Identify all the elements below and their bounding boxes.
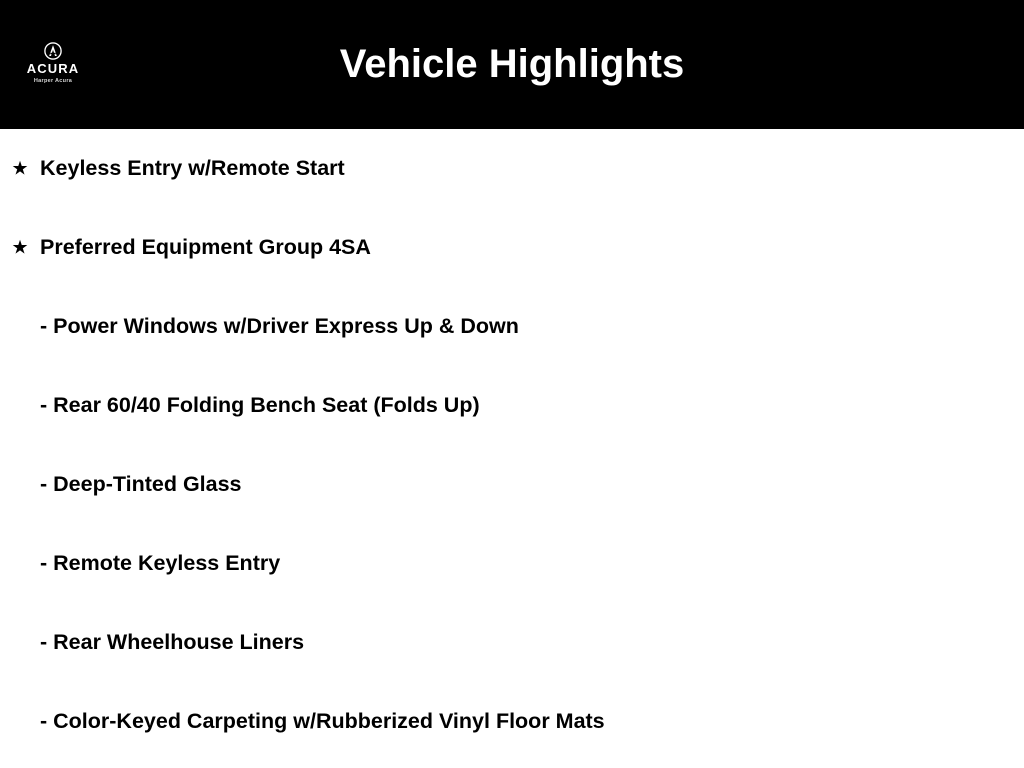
highlight-item-label: Preferred Equipment Group 4SA	[40, 235, 371, 260]
highlight-item-label: - Remote Keyless Entry	[40, 551, 280, 576]
highlight-item-label: - Rear Wheelhouse Liners	[40, 630, 304, 655]
highlight-item: - Rear 60/40 Folding Bench Seat (Folds U…	[0, 366, 1024, 445]
highlight-item: ★Keyless Entry w/Remote Start	[0, 129, 1024, 208]
highlight-item: ★Preferred Equipment Group 4SA	[0, 208, 1024, 287]
highlight-item: - Power Windows w/Driver Express Up & Do…	[0, 287, 1024, 366]
highlight-item: - Remote Keyless Entry	[0, 524, 1024, 603]
page-title: Vehicle Highlights	[0, 41, 1024, 87]
highlight-item: - Deep-Tinted Glass	[0, 445, 1024, 524]
highlight-item-label: - Deep-Tinted Glass	[40, 472, 242, 497]
highlight-item-label: - Power Windows w/Driver Express Up & Do…	[40, 314, 519, 339]
highlight-item-label: - Color-Keyed Carpeting w/Rubberized Vin…	[40, 709, 605, 734]
highlight-item: - Rear Wheelhouse Liners	[0, 603, 1024, 682]
vehicle-highlights-list: ★Keyless Entry w/Remote Start★Preferred …	[0, 129, 1024, 761]
highlight-item: - Color-Keyed Carpeting w/Rubberized Vin…	[0, 682, 1024, 761]
highlight-item-label: - Rear 60/40 Folding Bench Seat (Folds U…	[40, 393, 480, 418]
star-bullet-icon: ★	[11, 159, 29, 178]
star-bullet-icon: ★	[11, 238, 29, 257]
highlight-item-label: Keyless Entry w/Remote Start	[40, 156, 345, 181]
header-band: ACURA Harper Acura Vehicle Highlights	[0, 0, 1024, 129]
